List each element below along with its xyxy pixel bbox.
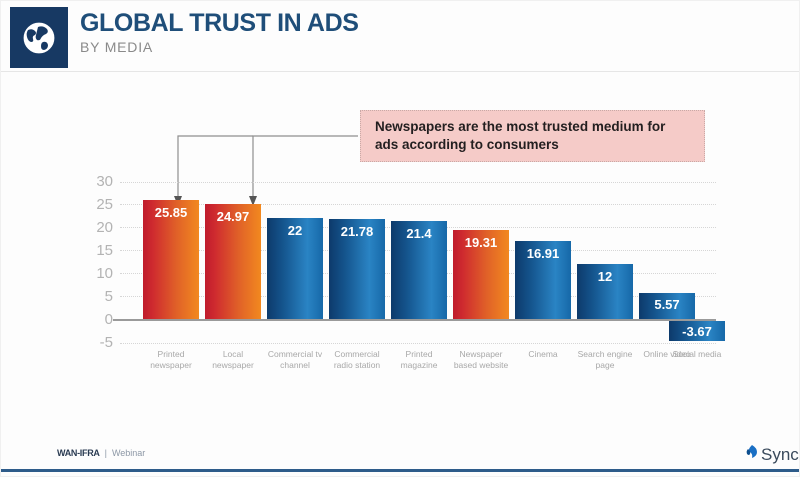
bar-label-printed-magazine: 21.4 xyxy=(391,226,447,241)
bar-label-cinema: 16.91 xyxy=(515,246,571,261)
xlabel-local-newspaper: Local newspaper xyxy=(203,349,263,371)
gridline-minus5 xyxy=(120,343,716,344)
slide-root: GLOBAL TRUST IN ADS BY MEDIA Newspapers … xyxy=(0,0,800,477)
ytick-30: 30 xyxy=(75,173,113,190)
bar-label-printed-newspaper: 25.85 xyxy=(143,205,199,220)
footer-context: Webinar xyxy=(112,448,145,458)
ytick-25: 25 xyxy=(75,196,113,213)
xlabel-search-engine-page: Search engine page xyxy=(576,349,634,371)
bar-label-online-video: 5.57 xyxy=(639,297,695,312)
xlabel-newspaper-based-website: Newspaper based website xyxy=(452,349,510,371)
ytick-minus5: -5 xyxy=(75,334,113,351)
bar-label-commercial-radio-station: 21.78 xyxy=(329,224,385,239)
xlabel-printed-newspaper: Printed newspaper xyxy=(141,349,201,371)
xlabel-cinema: Cinema xyxy=(514,349,572,360)
zero-axis-line xyxy=(113,319,716,321)
xlabel-commercial-radio-station: Commercial radio station xyxy=(326,349,388,371)
footer-divider: | xyxy=(105,448,107,458)
ytick-10: 10 xyxy=(75,265,113,282)
ytick-15: 15 xyxy=(75,242,113,259)
ytick-0: 0 xyxy=(75,311,113,328)
bar-chart: 30 25 20 15 10 5 0 -5 25.85 24.97 22 21.… xyxy=(0,0,800,477)
xlabel-social-media: Social media xyxy=(668,349,726,360)
ytick-5: 5 xyxy=(75,288,113,305)
sync-mark-icon xyxy=(745,444,759,465)
bar-label-commercial-tv-channel: 22 xyxy=(267,223,323,238)
bar-label-newspaper-based-website: 19.31 xyxy=(453,235,509,250)
bar-label-social-media: -3.67 xyxy=(669,324,725,339)
gridline-30 xyxy=(120,182,716,183)
xlabel-printed-magazine: Printed magazine xyxy=(389,349,449,371)
bar-label-search-engine-page: 12 xyxy=(577,269,633,284)
sync-wordmark: Sync xyxy=(761,445,799,465)
footer-accent-bar xyxy=(0,469,800,472)
wan-ifra-mark: WAN-IFRA xyxy=(57,448,100,458)
wan-ifra-logo: WAN-IFRA | Webinar xyxy=(57,448,145,458)
sync-logo: Sync xyxy=(745,444,799,465)
bar-label-local-newspaper: 24.97 xyxy=(205,209,261,224)
ytick-20: 20 xyxy=(75,219,113,236)
xlabel-commercial-tv-channel: Commercial tv channel xyxy=(264,349,326,371)
